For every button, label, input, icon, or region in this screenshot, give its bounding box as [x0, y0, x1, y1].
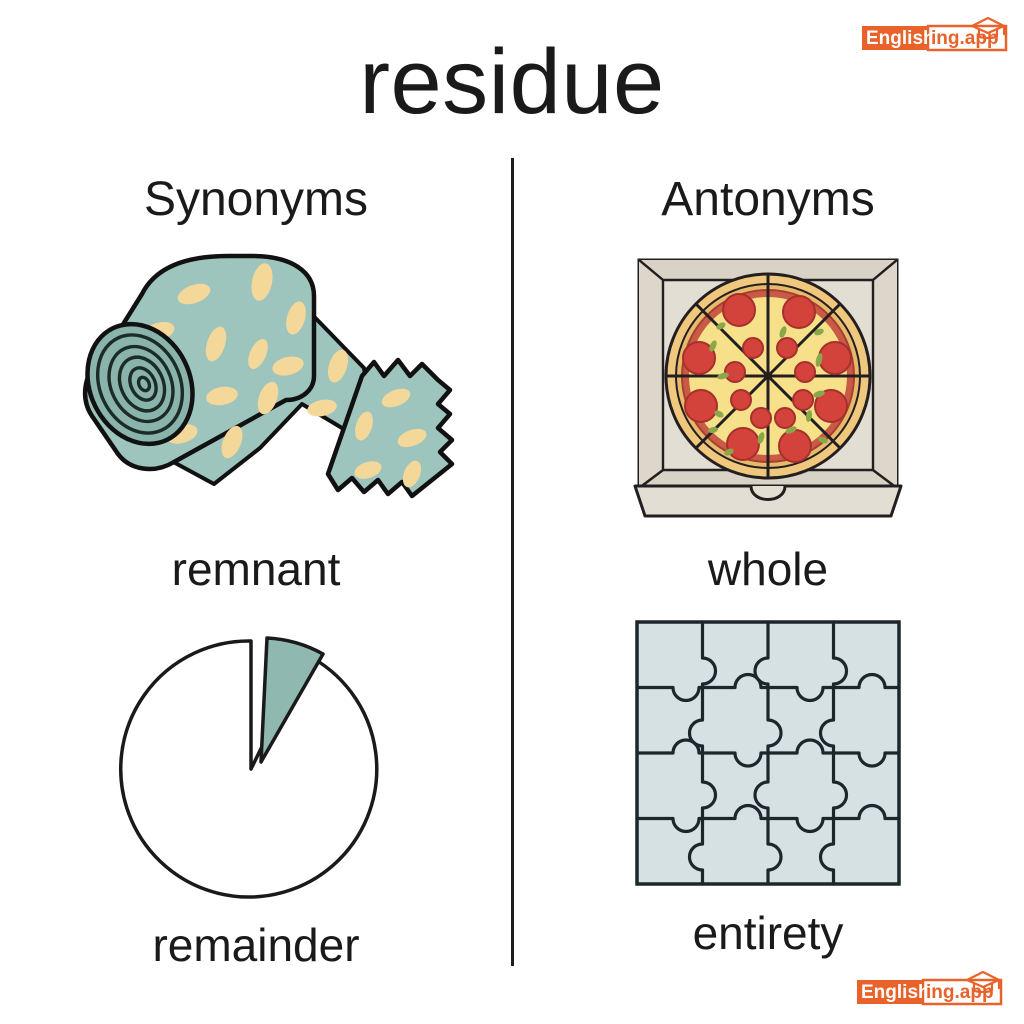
fabric-roll-with-torn-strip-illustration	[46, 248, 466, 528]
entry-remnant: remnant	[0, 248, 512, 592]
whole-pizza-in-open-box-illustration	[623, 248, 913, 528]
entry-whole: whole	[512, 248, 1024, 592]
pie-remainder-wedge	[121, 641, 377, 897]
completed-jigsaw-puzzle-illustration	[629, 614, 907, 892]
column-heading-antonyms: Antonyms	[512, 172, 1024, 227]
entry-remainder: remainder	[0, 614, 512, 968]
svg-text:English: English	[861, 982, 930, 1003]
entry-entirety: entirety	[512, 614, 1024, 956]
pizza-slice-cuts	[666, 274, 870, 478]
entry-word-entirety: entirety	[512, 910, 1024, 956]
entry-word-remnant: remnant	[0, 546, 512, 592]
entry-word-remainder: remainder	[0, 922, 512, 968]
brand-logo-bottom[interactable]: English ing.app	[855, 968, 1003, 1008]
column-heading-synonyms: Synonyms	[0, 172, 512, 227]
englishing-app-logo-icon: English ing.app	[855, 968, 1003, 1008]
page-title: residue	[0, 34, 1024, 131]
pizza	[666, 274, 870, 478]
exploded-pie-chart-illustration	[111, 614, 401, 904]
vocabulary-card: English ing.app residue Synonyms Antonym…	[0, 0, 1024, 1024]
entry-word-whole: whole	[512, 546, 1024, 592]
